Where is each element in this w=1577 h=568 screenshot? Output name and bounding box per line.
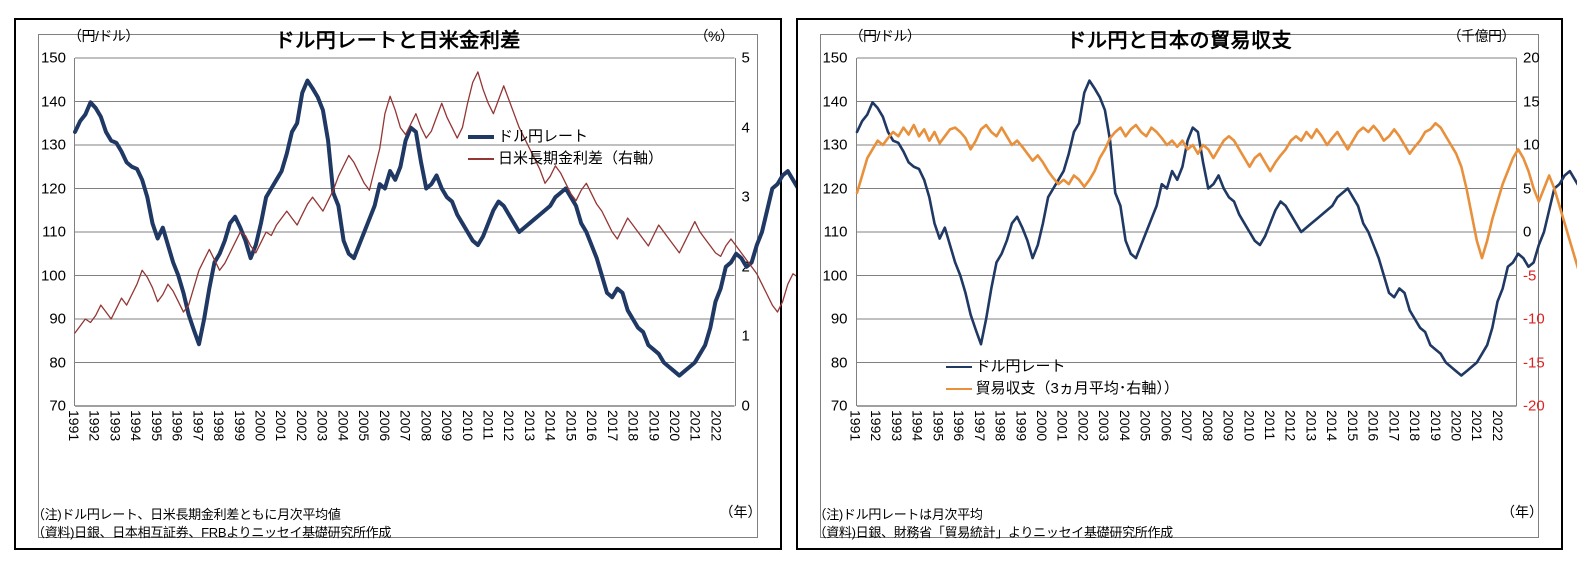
x-tick-label: 2002 bbox=[294, 410, 310, 441]
x-tick-label: 2017 bbox=[605, 410, 621, 441]
x-tick-label: 2022 bbox=[1490, 410, 1506, 441]
legend-swatch-icon bbox=[946, 366, 972, 369]
x-tick-label: 2011 bbox=[1262, 410, 1278, 440]
x-tick-label: 1999 bbox=[232, 410, 248, 441]
x-tick-label: 1992 bbox=[87, 410, 103, 441]
y-tick-label: 80 bbox=[831, 354, 848, 371]
footnote-source: （資料)日銀、日本相互証券、FRBよりニッセイ基礎研究所作成 bbox=[32, 524, 391, 542]
y-tick-label: 140 bbox=[822, 93, 847, 110]
y2-tick-label: 10 bbox=[1523, 137, 1540, 154]
x-tick-label: 1998 bbox=[993, 410, 1009, 441]
footnote-note: （注)ドル円レートは月次平均 bbox=[814, 506, 1173, 524]
x-tick-label: 1994 bbox=[910, 410, 926, 441]
y-tick-label: 110 bbox=[42, 224, 66, 241]
x-tick-label: 2009 bbox=[1221, 410, 1237, 441]
x-tick-label: 2004 bbox=[335, 410, 351, 441]
x-tick-label: 2014 bbox=[1324, 410, 1340, 441]
x-tick-label: 1996 bbox=[170, 410, 186, 441]
y-tick-label: 140 bbox=[41, 93, 66, 110]
y-tick-label: 80 bbox=[49, 354, 66, 371]
chart-footnotes: （注)ドル円レートは月次平均 （資料)日銀、財務省「貿易統計」よりニッセイ基礎研… bbox=[814, 506, 1173, 542]
x-tick-label: 1991 bbox=[848, 410, 864, 441]
x-tick-label: 1997 bbox=[190, 410, 206, 441]
legend-item[interactable]: 日米長期金利差（右軸） bbox=[468, 148, 663, 170]
x-tick-label: 2015 bbox=[563, 410, 579, 441]
x-tick-label: 2013 bbox=[1303, 410, 1319, 441]
series-line bbox=[857, 123, 1577, 380]
x-tick-label: 1993 bbox=[889, 410, 905, 441]
chart-canvas bbox=[75, 58, 735, 406]
panel-usdjpy-interest-rate-spread: （円/ドル） （%） ドル円レートと日米金利差 7080901001101201… bbox=[14, 18, 782, 550]
y2-tick-label: 3 bbox=[742, 189, 750, 206]
x-tick-label: 1997 bbox=[972, 410, 988, 441]
y2-tick-label: 15 bbox=[1523, 93, 1540, 110]
y2-tick-label: -5 bbox=[1523, 267, 1536, 284]
x-tick-label: 2016 bbox=[1366, 410, 1382, 441]
legend-label: ドル円レート bbox=[976, 357, 1066, 377]
legend-swatch-icon bbox=[946, 388, 972, 391]
x-tick-label: 2007 bbox=[398, 410, 414, 441]
x-tick-label: 2008 bbox=[1200, 410, 1216, 441]
x-tick-label: 1999 bbox=[1013, 410, 1029, 441]
legend-label: ドル円レート bbox=[498, 127, 588, 147]
chart-legend: ドル円レート日米長期金利差（右軸） bbox=[468, 126, 663, 170]
x-tick-label: 2006 bbox=[377, 410, 393, 441]
x-tick-label: 2013 bbox=[522, 410, 538, 441]
x-tick-label: 2014 bbox=[543, 410, 559, 441]
charts-page: （円/ドル） （%） ドル円レートと日米金利差 7080901001101201… bbox=[0, 0, 1577, 568]
x-tick-label: 2021 bbox=[1469, 410, 1485, 441]
y2-tick-label: -20 bbox=[1523, 398, 1545, 415]
plot-area bbox=[74, 58, 736, 406]
x-tick-label: 2012 bbox=[1283, 410, 1299, 441]
x-tick-label: 2007 bbox=[1179, 410, 1195, 441]
footnote-source: （資料)日銀、財務省「貿易統計」よりニッセイ基礎研究所作成 bbox=[814, 524, 1173, 542]
x-tick-label: 2017 bbox=[1386, 410, 1402, 441]
y-tick-label: 100 bbox=[41, 267, 66, 284]
legend-swatch-icon bbox=[468, 158, 494, 159]
x-tick-label: 1993 bbox=[107, 410, 123, 441]
y2-tick-label: 0 bbox=[742, 398, 750, 415]
x-axis-unit-label: （年） bbox=[720, 502, 762, 522]
x-tick-label: 1998 bbox=[211, 410, 227, 441]
x-tick-label: 2008 bbox=[418, 410, 434, 441]
x-axis-tick-labels: 1991199219931994199519961997199819992000… bbox=[74, 410, 736, 472]
chart-legend: ドル円レート貿易収支（3ヵ月平均･右軸）） bbox=[946, 356, 1179, 400]
y-tick-label: 90 bbox=[49, 311, 66, 328]
x-tick-label: 2001 bbox=[1055, 410, 1071, 441]
y-tick-label: 70 bbox=[831, 398, 848, 415]
chart-canvas bbox=[857, 58, 1517, 406]
y-tick-label: 100 bbox=[822, 267, 847, 284]
x-tick-label: 2020 bbox=[1448, 410, 1464, 441]
x-axis-tick-labels: 1991199219931994199519961997199819992000… bbox=[856, 410, 1518, 472]
plot-area bbox=[856, 58, 1518, 406]
chart-title: ドル円レートと日米金利差 bbox=[16, 24, 780, 53]
y2-tick-label: 0 bbox=[1523, 224, 1531, 241]
legend-swatch-icon bbox=[468, 135, 494, 139]
y2-tick-label: 20 bbox=[1523, 50, 1540, 67]
x-tick-label: 2020 bbox=[667, 410, 683, 441]
x-tick-label: 2015 bbox=[1345, 410, 1361, 441]
panel-usdjpy-trade-balance: （円/ドル） （千億円） ドル円と日本の貿易収支 708090100110120… bbox=[796, 18, 1564, 550]
x-tick-label: 1991 bbox=[66, 410, 82, 441]
legend-item[interactable]: ドル円レート bbox=[946, 356, 1179, 378]
x-tick-label: 2018 bbox=[1407, 410, 1423, 441]
y-tick-label: 120 bbox=[41, 180, 66, 197]
x-tick-label: 2000 bbox=[253, 410, 269, 441]
y-tick-label: 90 bbox=[831, 311, 848, 328]
left-axis-tick-labels: 708090100110120130140150 bbox=[22, 58, 72, 406]
x-tick-label: 2003 bbox=[315, 410, 331, 441]
x-tick-label: 2011 bbox=[480, 410, 496, 440]
footnote-note: （注)ドル円レート、日米長期金利差ともに月次平均値 bbox=[32, 506, 391, 524]
y2-tick-label: -15 bbox=[1523, 354, 1545, 371]
y2-tick-label: 4 bbox=[742, 119, 750, 136]
x-tick-label: 2001 bbox=[273, 410, 289, 441]
x-tick-label: 2010 bbox=[1241, 410, 1257, 441]
y2-tick-label: 1 bbox=[742, 328, 750, 345]
chart-footnotes: （注)ドル円レート、日米長期金利差ともに月次平均値 （資料)日銀、日本相互証券、… bbox=[32, 506, 391, 542]
y-tick-label: 150 bbox=[41, 50, 66, 67]
x-axis-unit-label: （年） bbox=[1501, 502, 1543, 522]
y2-tick-label: 5 bbox=[742, 50, 750, 67]
x-tick-label: 2016 bbox=[584, 410, 600, 441]
x-tick-label: 2009 bbox=[439, 410, 455, 441]
x-tick-label: 2006 bbox=[1158, 410, 1174, 441]
x-tick-label: 2019 bbox=[1428, 410, 1444, 441]
x-tick-label: 2005 bbox=[356, 410, 372, 441]
chart-title: ドル円と日本の貿易収支 bbox=[798, 24, 1562, 53]
x-tick-label: 1995 bbox=[149, 410, 165, 441]
legend-item[interactable]: ドル円レート bbox=[468, 126, 663, 148]
legend-label: 日米長期金利差（右軸） bbox=[498, 149, 663, 169]
y-tick-label: 120 bbox=[822, 180, 847, 197]
x-tick-label: 1996 bbox=[951, 410, 967, 441]
legend-label: 貿易収支（3ヵ月平均･右軸）） bbox=[976, 379, 1179, 399]
y-tick-label: 130 bbox=[822, 137, 847, 154]
y-tick-label: 110 bbox=[824, 224, 848, 241]
x-tick-label: 1994 bbox=[128, 410, 144, 441]
x-tick-label: 1992 bbox=[868, 410, 884, 441]
x-tick-label: 2005 bbox=[1138, 410, 1154, 441]
right-axis-tick-labels: 012345 bbox=[736, 58, 776, 406]
x-tick-label: 2010 bbox=[460, 410, 476, 441]
x-tick-label: 1995 bbox=[930, 410, 946, 441]
x-tick-label: 2021 bbox=[688, 410, 704, 441]
y2-tick-label: -10 bbox=[1523, 311, 1545, 328]
left-axis-tick-labels: 708090100110120130140150 bbox=[804, 58, 854, 406]
x-tick-label: 2003 bbox=[1096, 410, 1112, 441]
legend-item[interactable]: 貿易収支（3ヵ月平均･右軸）） bbox=[946, 378, 1179, 400]
x-tick-label: 2002 bbox=[1075, 410, 1091, 441]
y-tick-label: 150 bbox=[822, 50, 847, 67]
series-line bbox=[857, 81, 1577, 376]
x-tick-label: 2000 bbox=[1034, 410, 1050, 441]
y-tick-label: 70 bbox=[49, 398, 66, 415]
x-tick-label: 2022 bbox=[708, 410, 724, 441]
x-tick-label: 2012 bbox=[501, 410, 517, 441]
x-tick-label: 2019 bbox=[646, 410, 662, 441]
right-axis-tick-labels: 20151050-5-10-15-20 bbox=[1517, 58, 1557, 406]
y-tick-label: 130 bbox=[41, 137, 66, 154]
x-tick-label: 2018 bbox=[626, 410, 642, 441]
x-tick-label: 2004 bbox=[1117, 410, 1133, 441]
